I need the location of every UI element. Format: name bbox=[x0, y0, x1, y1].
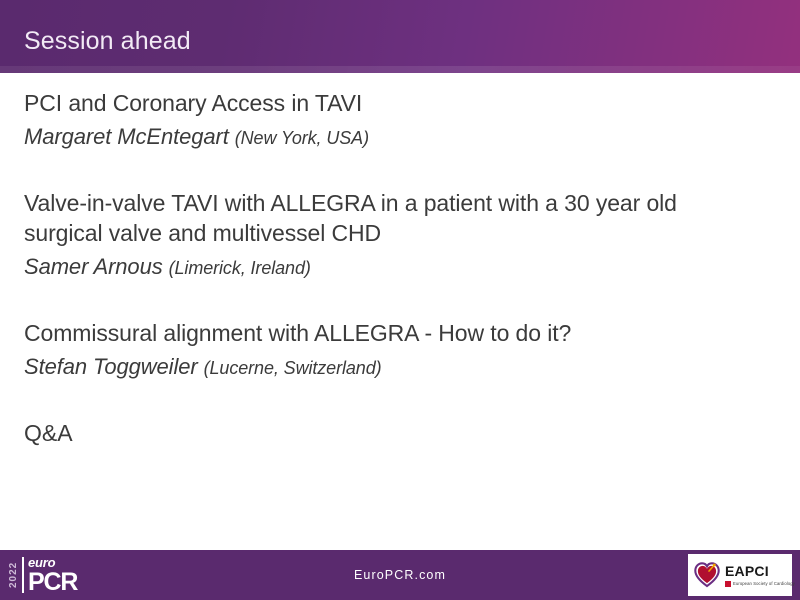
footer-website-url: EuroPCR.com bbox=[0, 550, 800, 600]
slide: Session ahead PCI and Coronary Access in… bbox=[0, 0, 800, 600]
speaker-name: Stefan Toggweiler bbox=[24, 354, 198, 379]
session-title: PCI and Coronary Access in TAVI bbox=[24, 88, 734, 118]
session-speaker: Stefan Toggweiler (Lucerne, Switzerland) bbox=[24, 353, 776, 382]
slide-footer: 2022 euro PCR EuroPCR.com EAPCI European… bbox=[0, 550, 800, 600]
eapci-subtitle-row: European Society of Cardiology bbox=[725, 581, 795, 587]
session-title: Valve-in-valve TAVI with ALLEGRA in a pa… bbox=[24, 188, 734, 248]
speaker-affiliation: (New York, USA) bbox=[235, 128, 369, 148]
heart-icon bbox=[694, 562, 720, 588]
session-item: PCI and Coronary Access in TAVI Margaret… bbox=[24, 88, 776, 152]
session-title: Commissural alignment with ALLEGRA - How… bbox=[24, 318, 734, 348]
speaker-affiliation: (Lucerne, Switzerland) bbox=[204, 358, 382, 378]
session-speaker: Samer Arnous (Limerick, Ireland) bbox=[24, 253, 776, 282]
qa-label: Q&A bbox=[24, 418, 776, 448]
session-speaker: Margaret McEntegart (New York, USA) bbox=[24, 123, 776, 152]
speaker-affiliation: (Limerick, Ireland) bbox=[169, 258, 311, 278]
page-title: Session ahead bbox=[24, 26, 191, 56]
session-list: PCI and Coronary Access in TAVI Margaret… bbox=[24, 88, 776, 448]
speaker-name: Samer Arnous bbox=[24, 254, 163, 279]
speaker-name: Margaret McEntegart bbox=[24, 124, 229, 149]
slide-header: Session ahead bbox=[0, 0, 800, 73]
eapci-name: EAPCI bbox=[725, 564, 795, 579]
header-sheen bbox=[0, 66, 800, 73]
session-item: Commissural alignment with ALLEGRA - How… bbox=[24, 318, 776, 382]
eapci-logo: EAPCI European Society of Cardiology bbox=[688, 554, 792, 596]
eapci-subtitle: European Society of Cardiology bbox=[733, 581, 795, 587]
eapci-text-group: EAPCI European Society of Cardiology bbox=[725, 564, 795, 587]
esc-mark-icon bbox=[725, 581, 731, 587]
session-item: Valve-in-valve TAVI with ALLEGRA in a pa… bbox=[24, 188, 776, 282]
